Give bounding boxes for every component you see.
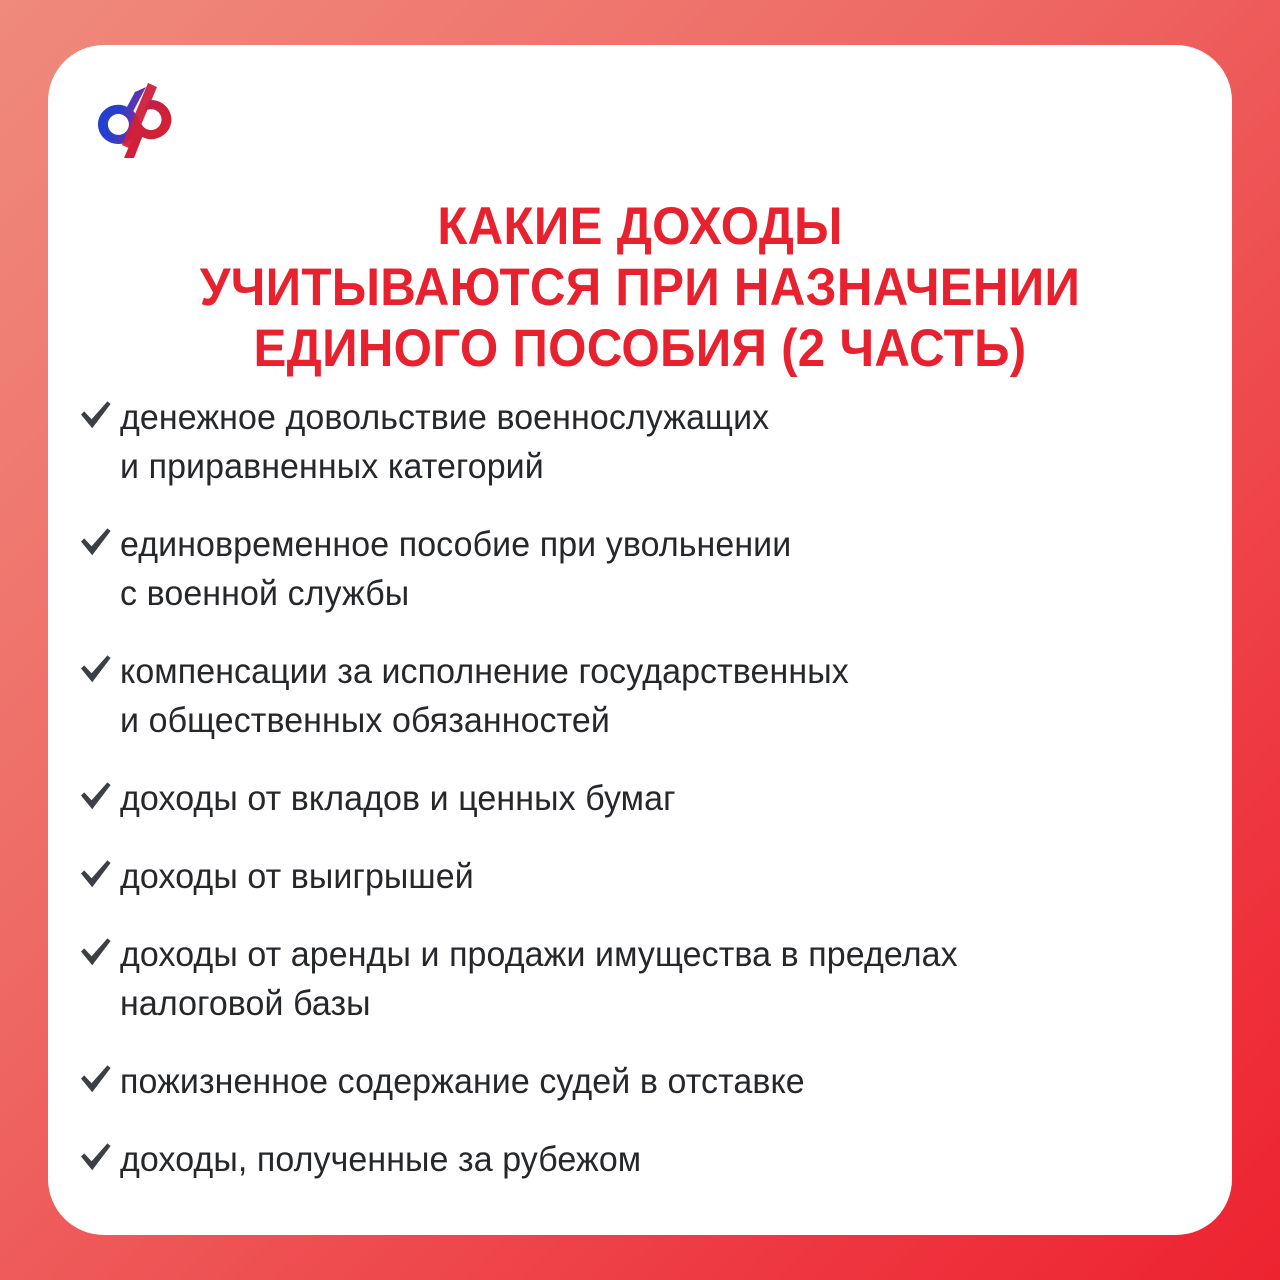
list-item: единовременное пособие при увольнении с …	[72, 520, 1232, 618]
list-item-text: компенсации за исполнение государственны…	[120, 647, 1199, 745]
check-icon	[72, 525, 120, 569]
check-icon	[72, 652, 120, 696]
check-icon	[72, 935, 120, 979]
list-item: пожизненное содержание судей в отставке	[72, 1057, 1232, 1106]
list-item: доходы от вкладов и ценных бумаг	[72, 774, 1232, 823]
list-item-text: денежное довольствие военнослужащих и пр…	[120, 393, 1199, 491]
title-line-2: УЧИТЫВАЮТСЯ ПРИ НАЗНАЧЕНИИ	[145, 257, 1135, 318]
sfr-logo	[91, 78, 195, 166]
page-title: КАКИЕ ДОХОДЫ УЧИТЫВАЮТСЯ ПРИ НАЗНАЧЕНИИ …	[145, 196, 1135, 379]
list-item: доходы от выигрышей	[72, 852, 1232, 901]
list-item-text: доходы от аренды и продажи имущества в п…	[120, 930, 1199, 1028]
list-item: доходы от аренды и продажи имущества в п…	[72, 930, 1232, 1028]
title-line-1: КАКИЕ ДОХОДЫ	[145, 196, 1135, 257]
content-card: КАКИЕ ДОХОДЫ УЧИТЫВАЮТСЯ ПРИ НАЗНАЧЕНИИ …	[48, 45, 1232, 1235]
income-types-list: денежное довольствие военнослужащих и пр…	[72, 393, 1232, 1184]
list-item-text: доходы, полученные за рубежом	[120, 1135, 1199, 1184]
poster-background: КАКИЕ ДОХОДЫ УЧИТЫВАЮТСЯ ПРИ НАЗНАЧЕНИИ …	[0, 0, 1280, 1280]
check-icon	[72, 1140, 120, 1184]
check-icon	[72, 398, 120, 442]
check-icon	[72, 779, 120, 823]
list-item-text: пожизненное содержание судей в отставке	[120, 1057, 1199, 1106]
list-item: компенсации за исполнение государственны…	[72, 647, 1232, 745]
list-item-text: единовременное пособие при увольнении с …	[120, 520, 1199, 618]
list-item-text: доходы от вкладов и ценных бумаг	[120, 774, 1199, 823]
check-icon	[72, 1062, 120, 1106]
list-item: денежное довольствие военнослужащих и пр…	[72, 393, 1232, 491]
title-line-3: ЕДИНОГО ПОСОБИЯ (2 ЧАСТЬ)	[145, 318, 1135, 379]
check-icon	[72, 857, 120, 901]
list-item: доходы, полученные за рубежом	[72, 1135, 1232, 1184]
list-item-text: доходы от выигрышей	[120, 852, 1199, 901]
